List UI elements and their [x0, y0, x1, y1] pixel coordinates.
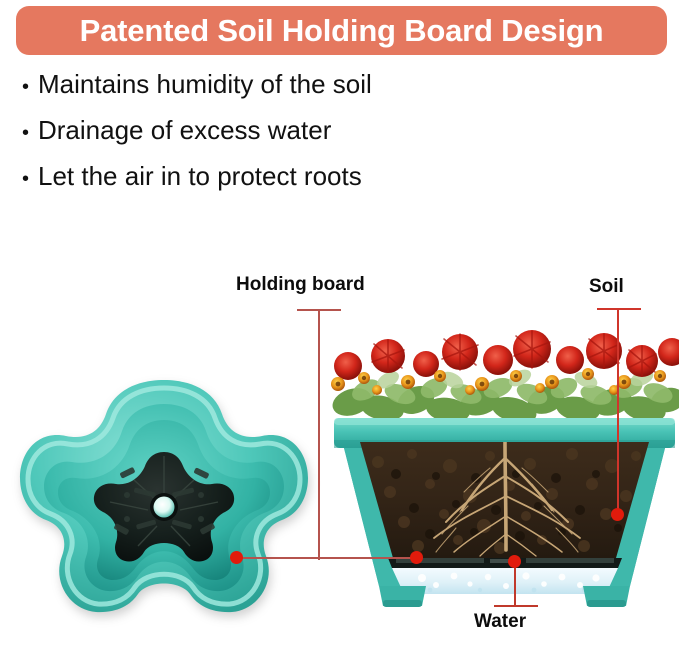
page-title: Patented Soil Holding Board Design	[80, 15, 604, 46]
flower-foliage-illustration	[330, 330, 679, 428]
top-view-planter-illustration	[14, 374, 314, 632]
top-view-planter	[14, 374, 314, 632]
cross-section-planter	[330, 330, 679, 610]
soil-leader-line	[617, 308, 619, 514]
soil-mass	[360, 442, 649, 558]
feature-list: • Maintains humidity of the soil • Drain…	[22, 70, 622, 208]
list-item: • Drainage of excess water	[22, 116, 622, 162]
feature-text: Let the air in to protect roots	[38, 162, 362, 191]
drain-hole-icon	[154, 497, 175, 518]
feature-text: Maintains humidity of the soil	[38, 70, 372, 99]
infographic-page: Patented Soil Holding Board Design • Mai…	[0, 0, 679, 646]
bullet-icon: •	[22, 169, 38, 189]
holding-board-leader-line	[318, 309, 320, 560]
pot-cross-section-illustration	[330, 418, 679, 610]
cross-section-holding-board	[388, 558, 622, 568]
holding-board-marker-dot-left	[230, 551, 243, 564]
water-marker-dot	[508, 555, 521, 568]
callout-label-soil: Soil	[589, 276, 624, 298]
feature-text: Drainage of excess water	[38, 116, 331, 145]
soil-marker-dot	[611, 508, 624, 521]
callout-label-holding-board: Holding board	[236, 274, 365, 296]
list-item: • Let the air in to protect roots	[22, 162, 622, 208]
list-item: • Maintains humidity of the soil	[22, 70, 622, 116]
soil-leader-cap	[597, 308, 641, 310]
holding-board-connector-right	[318, 557, 416, 559]
holding-board-connector-left	[236, 557, 320, 559]
callout-label-water: Water	[474, 611, 526, 633]
water-leader-cap	[494, 605, 538, 607]
red-chrysanthemum-blooms	[334, 330, 679, 380]
bullet-icon: •	[22, 77, 38, 97]
holding-board-marker-dot-right	[410, 551, 423, 564]
bullet-icon: •	[22, 123, 38, 143]
header-banner: Patented Soil Holding Board Design	[16, 6, 667, 55]
